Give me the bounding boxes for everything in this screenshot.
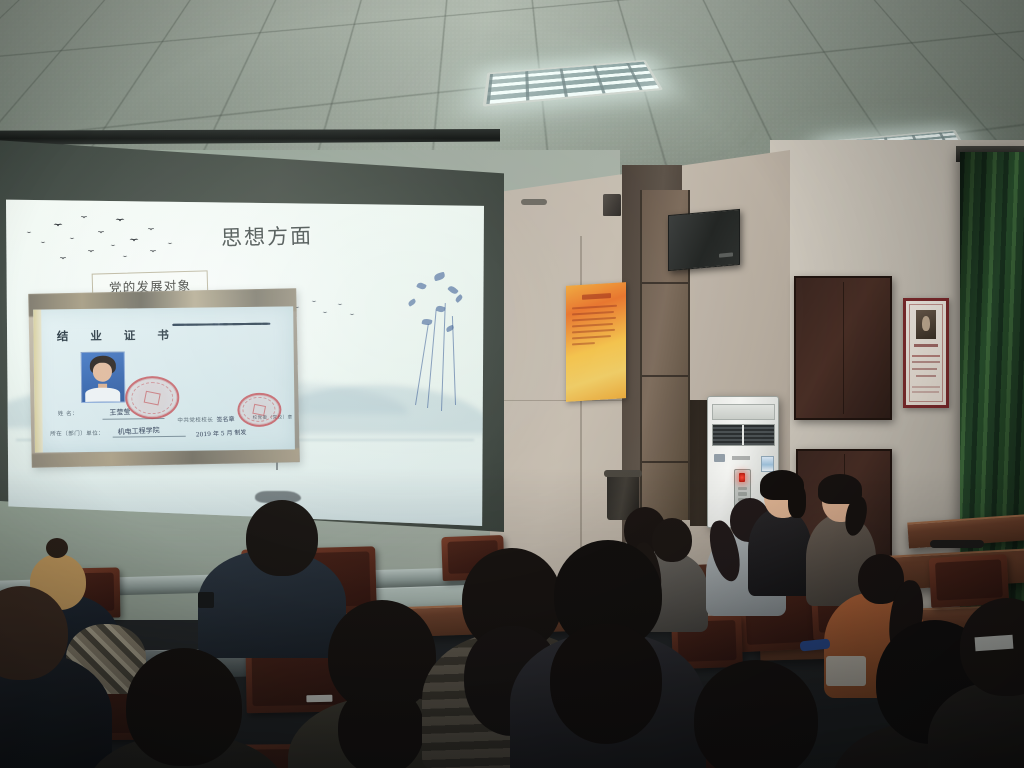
lecture-hall-photo: 思想方面 党的发展对象 结 业 证 书 (0, 0, 1024, 768)
ac-top-vent (712, 404, 775, 421)
ac-power-indicator-icon (739, 473, 745, 482)
certificate-footer-left-label: 中共党校校长 (177, 417, 213, 425)
ac-logo (714, 454, 725, 462)
wall-speaker-small-icon (603, 194, 621, 216)
ac-energy-label (761, 456, 774, 473)
certificate-image: 结 业 证 书 姓 名： 王莹莹 所在（部门）单位： (28, 289, 299, 468)
portrait-photo (916, 310, 935, 339)
certificate-body-text (168, 323, 280, 324)
certificate-org-underline (113, 437, 186, 439)
desk-item-paper (975, 635, 1014, 652)
certificate-paper: 结 业 证 书 姓 名： 王莹莹 所在（部门）单位： (33, 307, 294, 453)
wood-wall-panel (794, 276, 892, 420)
desk-item-cable (930, 540, 984, 548)
framed-portrait-plaque (903, 298, 949, 408)
ac-grille (712, 424, 775, 446)
orange-poster (566, 282, 626, 402)
wall-speaker-large-icon (668, 209, 740, 271)
ac-side-shadow (690, 400, 708, 526)
certificate-footer-date: 2019 年 5 月 制发 (195, 428, 246, 439)
certificate-name-label: 姓 名： (58, 410, 78, 418)
ac-brand-text (732, 456, 750, 461)
projection-screen-surface: 思想方面 党的发展对象 结 业 证 书 (6, 198, 484, 526)
red-seal-icon (125, 377, 180, 420)
certificate-photo (80, 352, 125, 404)
desk-item-bag (826, 656, 866, 686)
certificate-footer-left-value: 签名章 (216, 415, 234, 425)
red-seal-icon (237, 393, 282, 428)
certificate-org-label: 所在（部门）单位： (50, 429, 104, 438)
certificate-title: 结 业 证 书 (57, 327, 178, 344)
slide-title: 思想方面 (221, 220, 314, 253)
desk-item-cup (198, 592, 214, 608)
certificate-left-edge (33, 310, 43, 453)
wall-bracket-icon (521, 199, 547, 205)
